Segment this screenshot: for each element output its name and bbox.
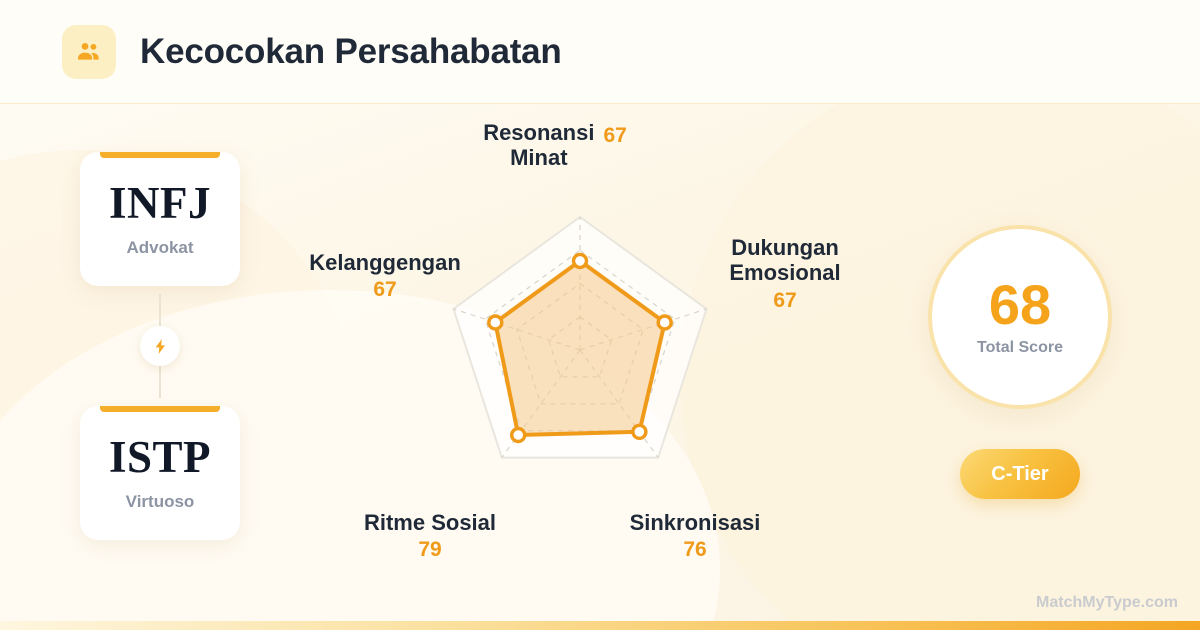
axis-name: Resonansi Minat: [483, 120, 594, 171]
page-title: Kecocokan Persahabatan: [140, 32, 562, 72]
axis-value: 67: [603, 124, 626, 148]
score-panel: 68 Total Score C-Tier: [928, 225, 1112, 499]
radar-point-0: [574, 254, 587, 267]
site-watermark: MatchMyType.com: [1036, 594, 1178, 612]
total-score-label: Total Score: [977, 339, 1063, 357]
total-score-circle: 68 Total Score: [928, 225, 1112, 409]
radar-point-3: [512, 429, 525, 442]
personality-card-first[interactable]: INFJ Advokat: [80, 152, 240, 286]
radar-axis-label-sinkronisasi: Sinkronisasi 76: [590, 510, 800, 562]
axis-name: Sinkronisasi: [590, 510, 800, 535]
axis-name: Ritme Sosial: [320, 510, 540, 535]
axis-value: 76: [590, 538, 800, 562]
personality-pair: INFJ Advokat ISTP Virtuoso: [80, 152, 240, 540]
pair-connector: [80, 286, 240, 406]
lightning-bolt-icon: [140, 326, 180, 366]
radar-point-2: [633, 425, 646, 438]
type-code-second: ISTP: [109, 435, 211, 480]
bottom-accent-bar: [0, 621, 1200, 630]
type-name-first: Advokat: [126, 238, 193, 258]
page-header: Kecocokan Persahabatan: [0, 0, 1200, 104]
axis-value: 79: [320, 538, 540, 562]
people-group-icon: [62, 25, 116, 79]
radar-axis-label-ritme-sosial: Ritme Sosial 79: [320, 510, 540, 562]
axis-value: 67: [670, 289, 900, 313]
radar-point-4: [489, 316, 502, 329]
personality-card-second[interactable]: ISTP Virtuoso: [80, 406, 240, 540]
radar-axis-label-resonansi-minat: Resonansi Minat 67: [425, 120, 685, 171]
axis-name: Kelanggengan: [260, 250, 510, 275]
total-score-value: 68: [989, 277, 1051, 333]
radar-point-1: [658, 316, 671, 329]
radar-chart: Resonansi Minat 67 Dukungan Emosional 67…: [270, 110, 910, 590]
type-name-second: Virtuoso: [126, 492, 195, 512]
radar-axis-label-kelanggengan: Kelanggengan 67: [260, 250, 510, 302]
tier-badge: C-Tier: [960, 449, 1080, 499]
axis-name: Dukungan Emosional: [670, 235, 900, 286]
type-code-first: INFJ: [109, 181, 211, 226]
axis-value: 67: [260, 278, 510, 302]
radar-axis-label-dukungan-emosional: Dukungan Emosional 67: [670, 235, 900, 313]
